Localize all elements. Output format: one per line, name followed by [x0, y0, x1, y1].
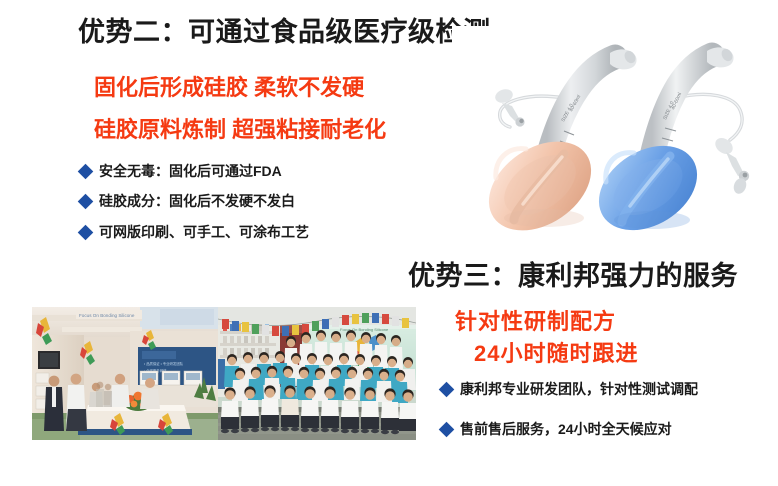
svg-text:Focus On Bonding Silicone: Focus On Bonding Silicone [79, 313, 135, 318]
bullet-item: 可网版印刷、可手工、可涂布工艺 [80, 224, 309, 241]
diamond-bullet-icon [78, 194, 94, 210]
diamond-bullet-icon [439, 422, 455, 438]
heading-advantage-two: 优势二：可通过食品级医疗级检测 [78, 18, 491, 48]
bullet-item-label: 康利邦专业研发团队，针对性测试调配 [460, 381, 698, 398]
diamond-bullet-icon [78, 164, 94, 180]
red-emphasis-line-4: 24小时随时跟进 [474, 342, 638, 366]
red-emphasis-line-3: 针对性研制配方 [455, 310, 616, 334]
laryngeal-mask-airway-photo: SIZE 4.0 40-60ml [452, 26, 778, 258]
company-composite-photo: Focus On Bonding Silicone • 品质保证 • 专业研发团… [32, 307, 416, 440]
bullet-item: 安全无毒：固化后可通过FDA [80, 163, 282, 180]
bullet-item: 硅胶成分：固化后不发硬不发白 [80, 193, 295, 210]
svg-text:Focus On Bonding Silicone: Focus On Bonding Silicone [340, 327, 389, 332]
red-emphasis-line-2: 硅胶原料炼制 超强粘接耐老化 [94, 118, 386, 142]
slide-canvas: 优势二：可通过食品级医疗级检测 固化后形成硅胶 柔软不发硬 硅胶原料炼制 超强粘… [0, 0, 778, 486]
diamond-bullet-icon [78, 225, 94, 241]
bullet-item-label: 可网版印刷、可手工、可涂布工艺 [99, 224, 309, 241]
bullet-item-label: 售前售后服务，24小时全天候应对 [460, 421, 672, 438]
bullet-item: 售前售后服务，24小时全天候应对 [441, 421, 672, 438]
diamond-bullet-icon [439, 382, 455, 398]
team-group-photo: Focus On Bonding Silicone 康 利 邦 专 业 硅 胶 … [218, 307, 416, 440]
bullet-item-label: 安全无毒：固化后可通过FDA [99, 163, 282, 180]
svg-text:• 品质保证 • 专业研发团队: • 品质保证 • 专业研发团队 [144, 361, 184, 366]
bullet-item-label: 硅胶成分：固化后不发硬不发白 [99, 193, 295, 210]
trade-show-booth-photo: Focus On Bonding Silicone • 品质保证 • 专业研发团… [32, 307, 218, 440]
bullet-item: 康利邦专业研发团队，针对性测试调配 [441, 381, 698, 398]
red-emphasis-line-1: 固化后形成硅胶 柔软不发硬 [94, 76, 364, 100]
heading-advantage-three: 优势三：康利邦强力的服务 [408, 262, 738, 292]
